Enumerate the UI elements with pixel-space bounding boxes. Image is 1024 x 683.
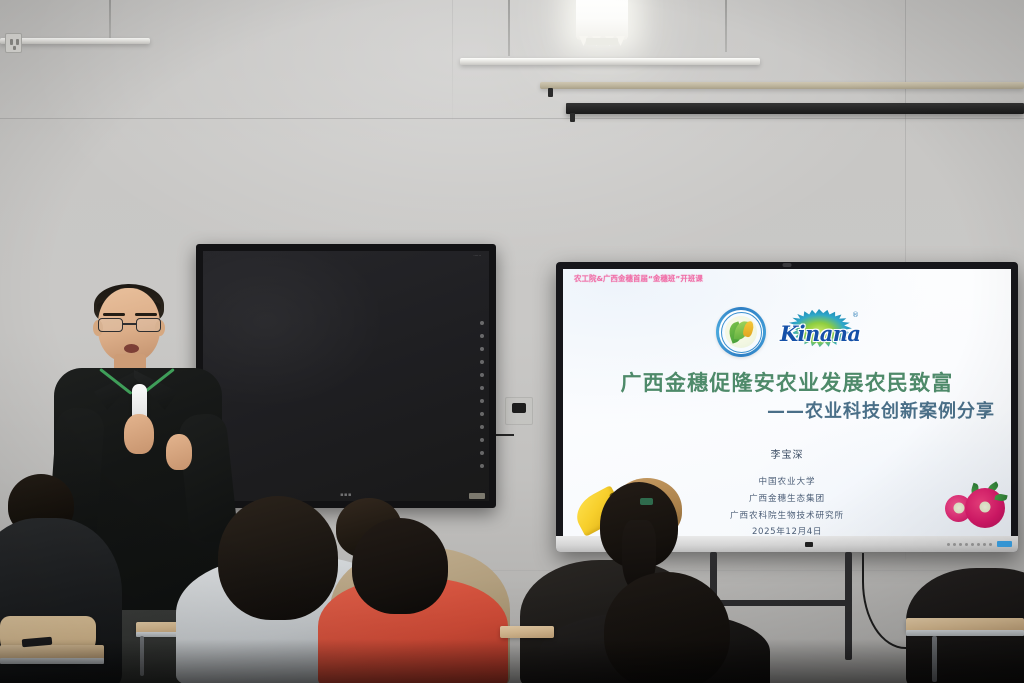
presenter-mouth bbox=[124, 344, 139, 353]
display-button-row[interactable] bbox=[947, 543, 992, 546]
whiteboard-top-code: ······ bbox=[473, 253, 481, 258]
display-stand-crossbar bbox=[710, 600, 852, 606]
presenter-brow-left bbox=[103, 313, 125, 316]
power-indicator[interactable] bbox=[997, 541, 1012, 547]
registered-mark-icon: ® bbox=[852, 311, 859, 319]
wall-joint-center bbox=[452, 0, 453, 120]
classroom-photo: ······ ▪▪▪ 农工院&广西金穗首届“金穗班”开班课 bbox=[0, 0, 1024, 683]
lamp-diffuser-cap bbox=[586, 38, 618, 45]
wall-seam-upper bbox=[0, 118, 1024, 119]
presenter-glasses bbox=[98, 318, 161, 333]
student-red-jacket-head bbox=[352, 518, 448, 614]
whiteboard-corner-badge bbox=[469, 493, 485, 499]
whiteboard-side-buttons[interactable] bbox=[480, 321, 484, 468]
wall-outlet-top-left[interactable] bbox=[5, 33, 22, 53]
light-hanger-right bbox=[725, 0, 727, 52]
student-front-center-head bbox=[604, 572, 730, 683]
desk-front-left-edge bbox=[0, 658, 104, 664]
desk-mid-left-frame bbox=[140, 636, 144, 676]
light-hanger-mid bbox=[508, 0, 510, 56]
ceiling-fluorescent-lamp bbox=[576, 0, 628, 40]
retracted-projection-screen bbox=[566, 103, 1024, 114]
light-hanger-left bbox=[109, 0, 111, 38]
presenter-hand-left bbox=[124, 414, 154, 454]
dragonfruit-image bbox=[945, 482, 1007, 534]
suspended-light-left bbox=[0, 38, 150, 44]
presenter-brow-right bbox=[135, 313, 157, 316]
power-plug bbox=[512, 403, 526, 413]
slide-author: 李宝深 bbox=[563, 446, 1011, 461]
slide-title: 广西金穗促隆安农业发展农民致富 bbox=[563, 367, 1011, 397]
circular-seal-logo bbox=[716, 307, 766, 357]
slide-subtitle: ——农业科技创新案例分享 bbox=[563, 397, 1011, 423]
suspended-light-right bbox=[460, 58, 760, 65]
whiteboard-brand-mark: ▪▪▪ bbox=[340, 492, 352, 498]
slide-header-banner: 农工院&广西金穗首届“金穗班”开班课 bbox=[574, 273, 703, 284]
screen-bracket-left bbox=[548, 88, 553, 97]
kinana-wordmark: Kinana bbox=[780, 321, 858, 346]
slide-logo-row: Kinana ® bbox=[563, 307, 1011, 357]
presenter-hand-right bbox=[166, 434, 192, 470]
projection-screen-wood-rail bbox=[540, 82, 1024, 89]
desk-right-frame bbox=[932, 636, 937, 682]
display-stand-leg-right bbox=[845, 552, 852, 660]
kinana-brand-logo: Kinana ® bbox=[780, 308, 858, 356]
student-grey-hoodie-head bbox=[218, 496, 338, 620]
screen-bracket-right bbox=[570, 113, 575, 122]
hair-clip-icon bbox=[640, 498, 653, 505]
ir-sensor-icon bbox=[805, 542, 813, 547]
desk-center bbox=[500, 626, 554, 638]
display-camera-icon bbox=[783, 263, 792, 267]
desk-right-edge bbox=[906, 630, 1024, 636]
